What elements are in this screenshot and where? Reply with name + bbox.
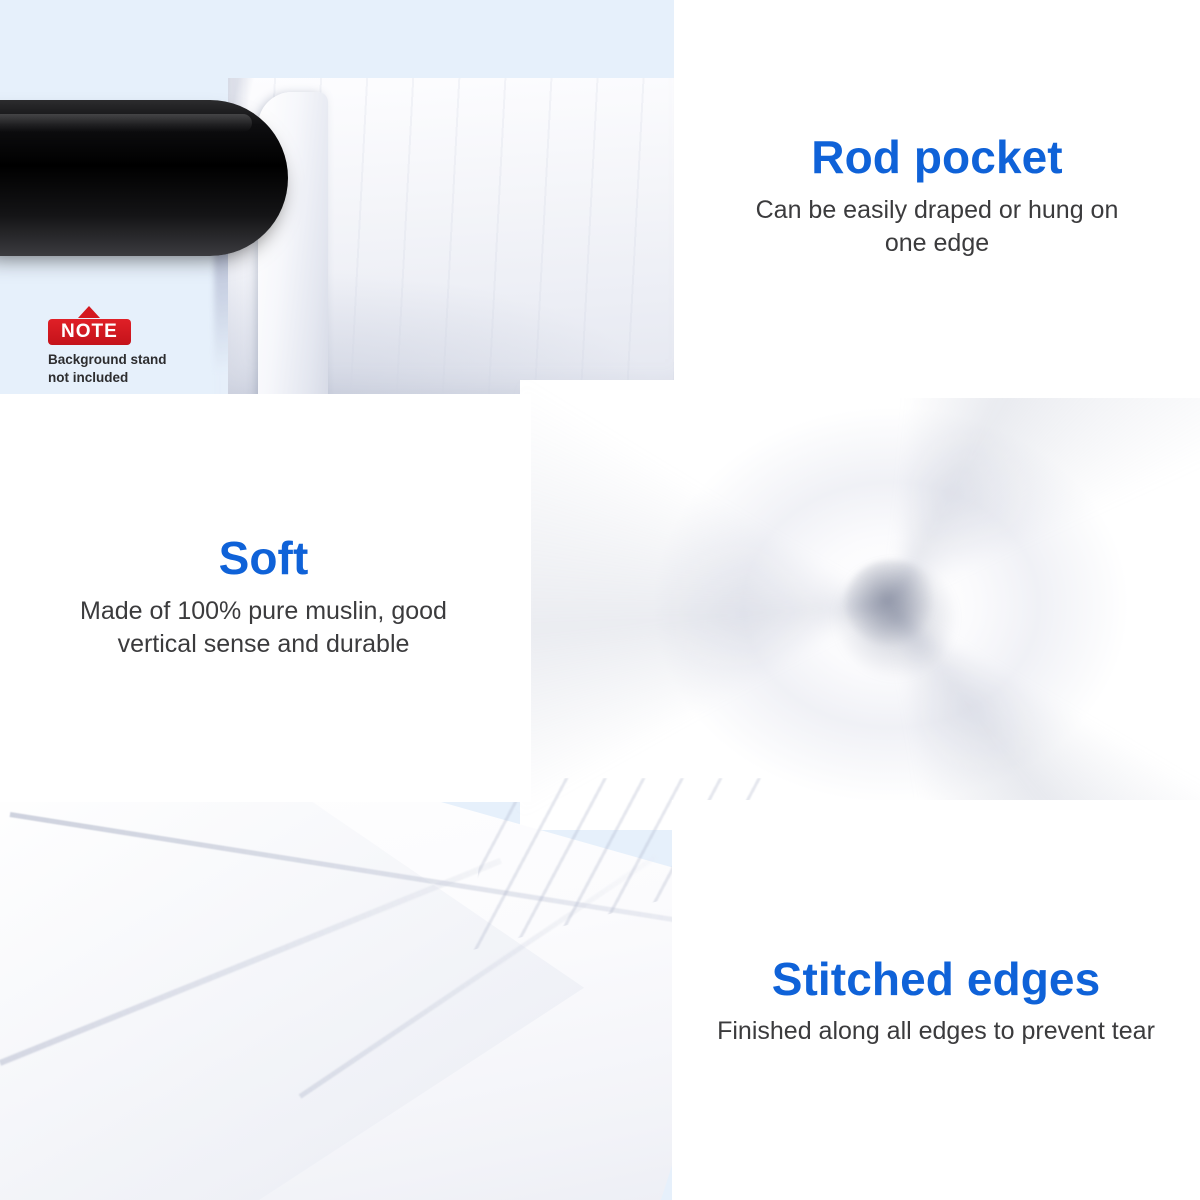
note-text: Background stand not included	[48, 351, 167, 387]
muslin-swirl-center	[845, 560, 937, 646]
feature-heading-rod-pocket: Rod pocket	[811, 133, 1062, 181]
product-infographic: NOTE Background stand not included Rod p…	[0, 0, 1200, 1200]
feature-panel-soft: Soft Made of 100% pure muslin, good vert…	[0, 394, 531, 802]
background-stand-rod	[0, 100, 288, 256]
warning-triangle-icon	[78, 306, 100, 318]
feature-heading-soft: Soft	[219, 534, 309, 582]
note-label: NOTE	[48, 319, 131, 345]
feature-body-soft: Made of 100% pure muslin, good vertical …	[49, 595, 479, 662]
feature-body-stitched-edges: Finished along all edges to prevent tear	[717, 1015, 1155, 1049]
feature-panel-stitched-edges: Stitched edges Finished along all edges …	[672, 800, 1200, 1200]
feature-panel-rod-pocket: Rod pocket Can be easily draped or hung …	[674, 0, 1200, 398]
feature-body-rod-pocket: Can be easily draped or hung on one edge	[737, 194, 1137, 261]
feature-heading-stitched-edges: Stitched edges	[772, 955, 1101, 1003]
note-badge: NOTE Background stand not included	[48, 306, 167, 387]
